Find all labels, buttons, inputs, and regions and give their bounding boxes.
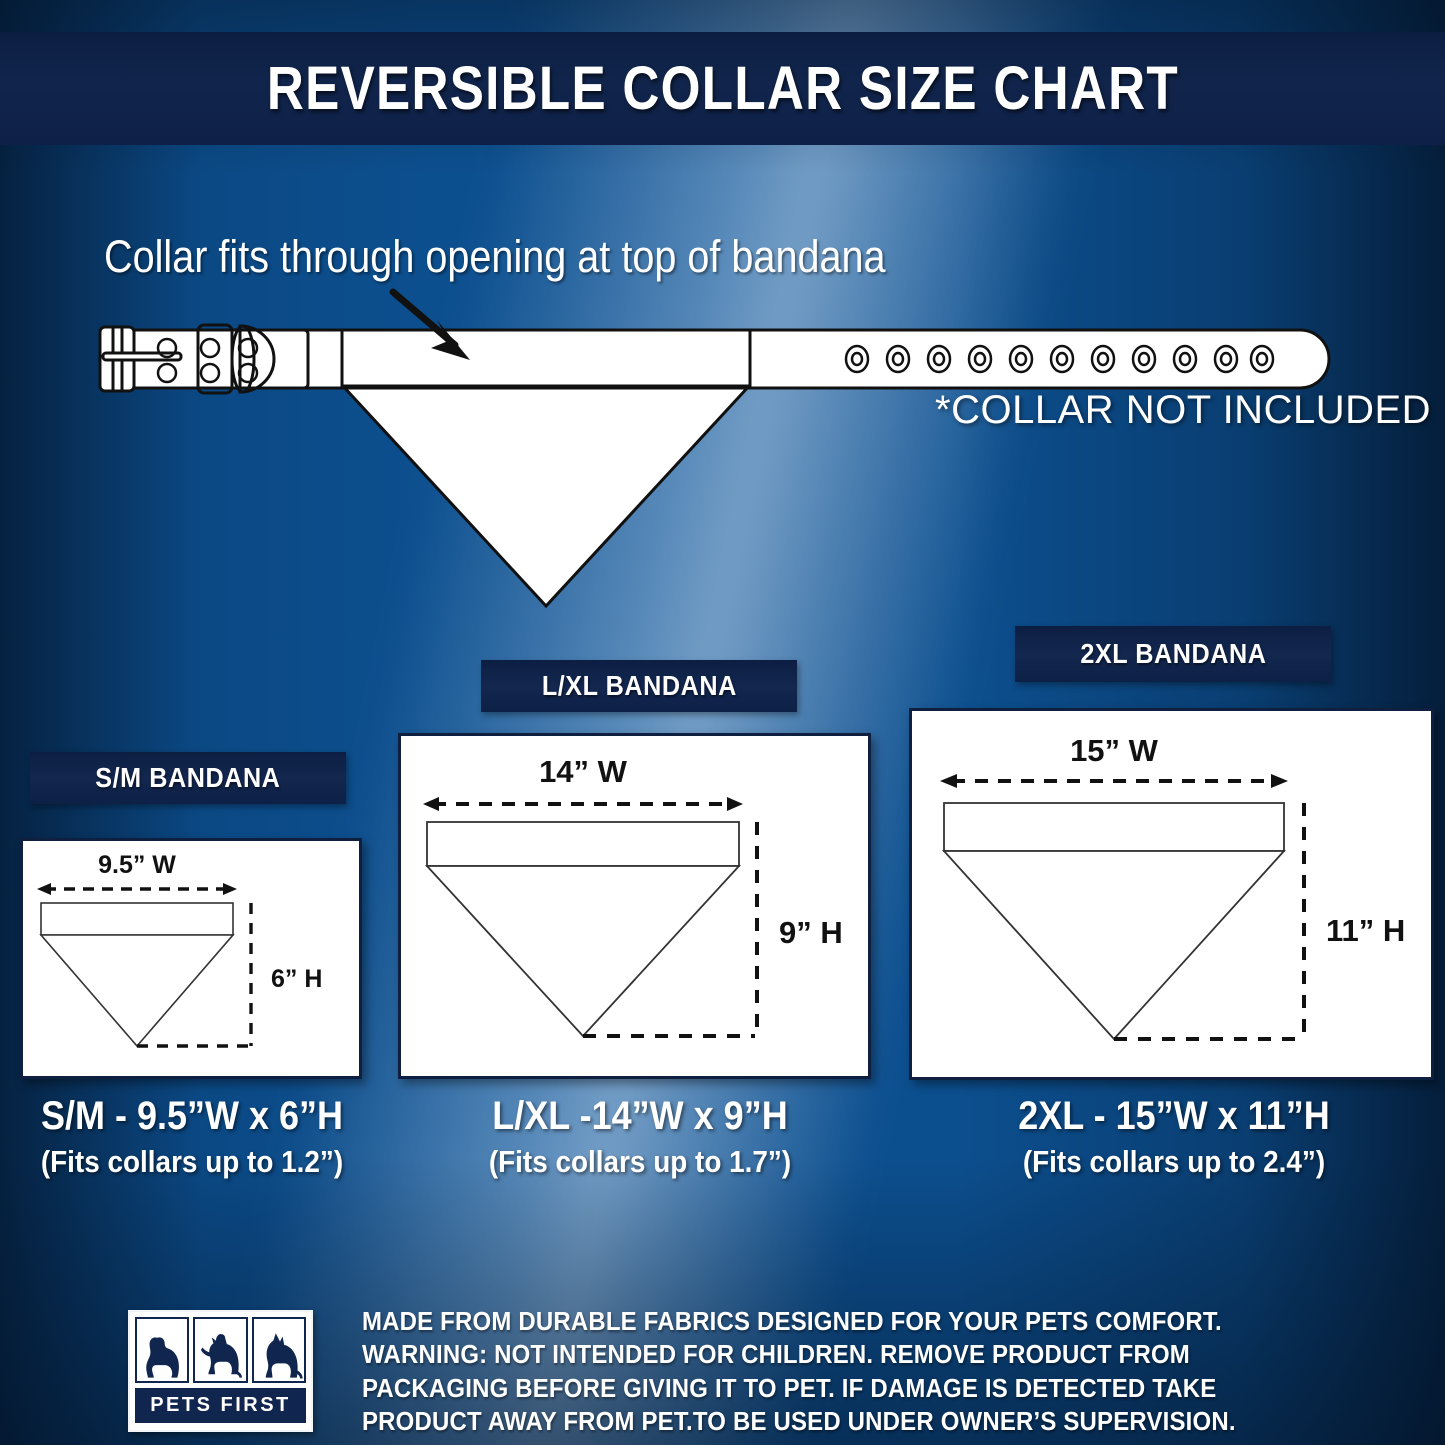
caption-sm: S/M - 9.5”W x 6”H (Fits collars up to 1.…: [0, 1093, 384, 1186]
panel-label-2xl-text: 2XL BANDANA: [1080, 638, 1266, 670]
panel-card-lxl: 14” W 9” H: [398, 733, 871, 1079]
sm-sleeve: [41, 903, 233, 935]
sm-diagram: 9.5” W 6” H: [23, 841, 359, 1076]
xxl-width-dimension: [940, 774, 1288, 788]
collar-buckle: [100, 325, 308, 393]
sm-height-label: 6” H: [271, 965, 322, 993]
panel-label-2xl: 2XL BANDANA: [1015, 626, 1331, 682]
lxl-sleeve: [427, 822, 739, 866]
logo-dog-panels: [135, 1317, 306, 1383]
caption-sm-main: S/M - 9.5”W x 6”H: [19, 1093, 365, 1139]
panel-label-sm: S/M BANDANA: [30, 752, 346, 804]
lxl-diagram: 14” W 9” H: [401, 736, 868, 1076]
footer-line-1: MADE FROM DURABLE FABRICS DESIGNED FOR Y…: [362, 1306, 1302, 1339]
sm-width-label: 9.5” W: [98, 851, 176, 879]
logo-dog-sitting-icon: [135, 1317, 189, 1383]
panel-card-2xl: 15” W 11” H: [909, 708, 1434, 1080]
panel-label-sm-text: S/M BANDANA: [95, 762, 280, 794]
caption-2xl-sub: (Fits collars up to 2.4”): [1001, 1139, 1347, 1186]
pets-first-logo: PETS FIRST: [128, 1310, 313, 1432]
caption-lxl-main: L/XL -14”W x 9”H: [467, 1093, 813, 1139]
xxl-width-label: 15” W: [1070, 733, 1159, 768]
footer-legal-text: MADE FROM DURABLE FABRICS DESIGNED FOR Y…: [362, 1306, 1362, 1440]
xxl-diagram: 15” W 11” H: [912, 711, 1431, 1077]
lxl-width-label: 14” W: [539, 754, 628, 789]
size-chart-infographic: REVERSIBLE COLLAR SIZE CHART Collar fits…: [0, 0, 1445, 1445]
lxl-triangle: [427, 866, 739, 1036]
lxl-width-dimension: [423, 797, 743, 811]
panel-label-lxl: L/XL BANDANA: [481, 660, 797, 712]
caption-2xl-main: 2XL - 15”W x 11”H: [1001, 1093, 1347, 1139]
footer-line-4: PRODUCT AWAY FROM PET.TO BE USED UNDER O…: [362, 1406, 1302, 1439]
caption-sm-sub: (Fits collars up to 1.2”): [19, 1139, 365, 1186]
logo-brand-name: PETS FIRST: [135, 1388, 306, 1423]
bandana-shape: [342, 385, 750, 606]
panel-label-lxl-text: L/XL BANDANA: [541, 670, 736, 702]
panel-card-sm: 9.5” W 6” H: [20, 838, 362, 1079]
lxl-height-label: 9” H: [779, 915, 843, 950]
bandana-sleeve: [342, 330, 750, 386]
xxl-sleeve: [944, 803, 1284, 851]
xxl-height-label: 11” H: [1326, 913, 1405, 948]
footer-line-3: PACKAGING BEFORE GIVING IT TO PET. IF DA…: [362, 1373, 1302, 1406]
caption-2xl: 2XL - 15”W x 11”H (Fits collars up to 2.…: [982, 1093, 1366, 1186]
caption-lxl-sub: (Fits collars up to 1.7”): [467, 1139, 813, 1186]
caption-lxl: L/XL -14”W x 9”H (Fits collars up to 1.7…: [448, 1093, 832, 1186]
sm-width-dimension: [37, 883, 237, 895]
logo-dog-begging-icon: [193, 1317, 247, 1383]
sm-triangle: [41, 935, 233, 1046]
footer-line-2: WARNING: NOT INTENDED FOR CHILDREN. REMO…: [362, 1339, 1302, 1372]
logo-dog-shepherd-icon: [252, 1317, 306, 1383]
xxl-triangle: [944, 851, 1284, 1039]
